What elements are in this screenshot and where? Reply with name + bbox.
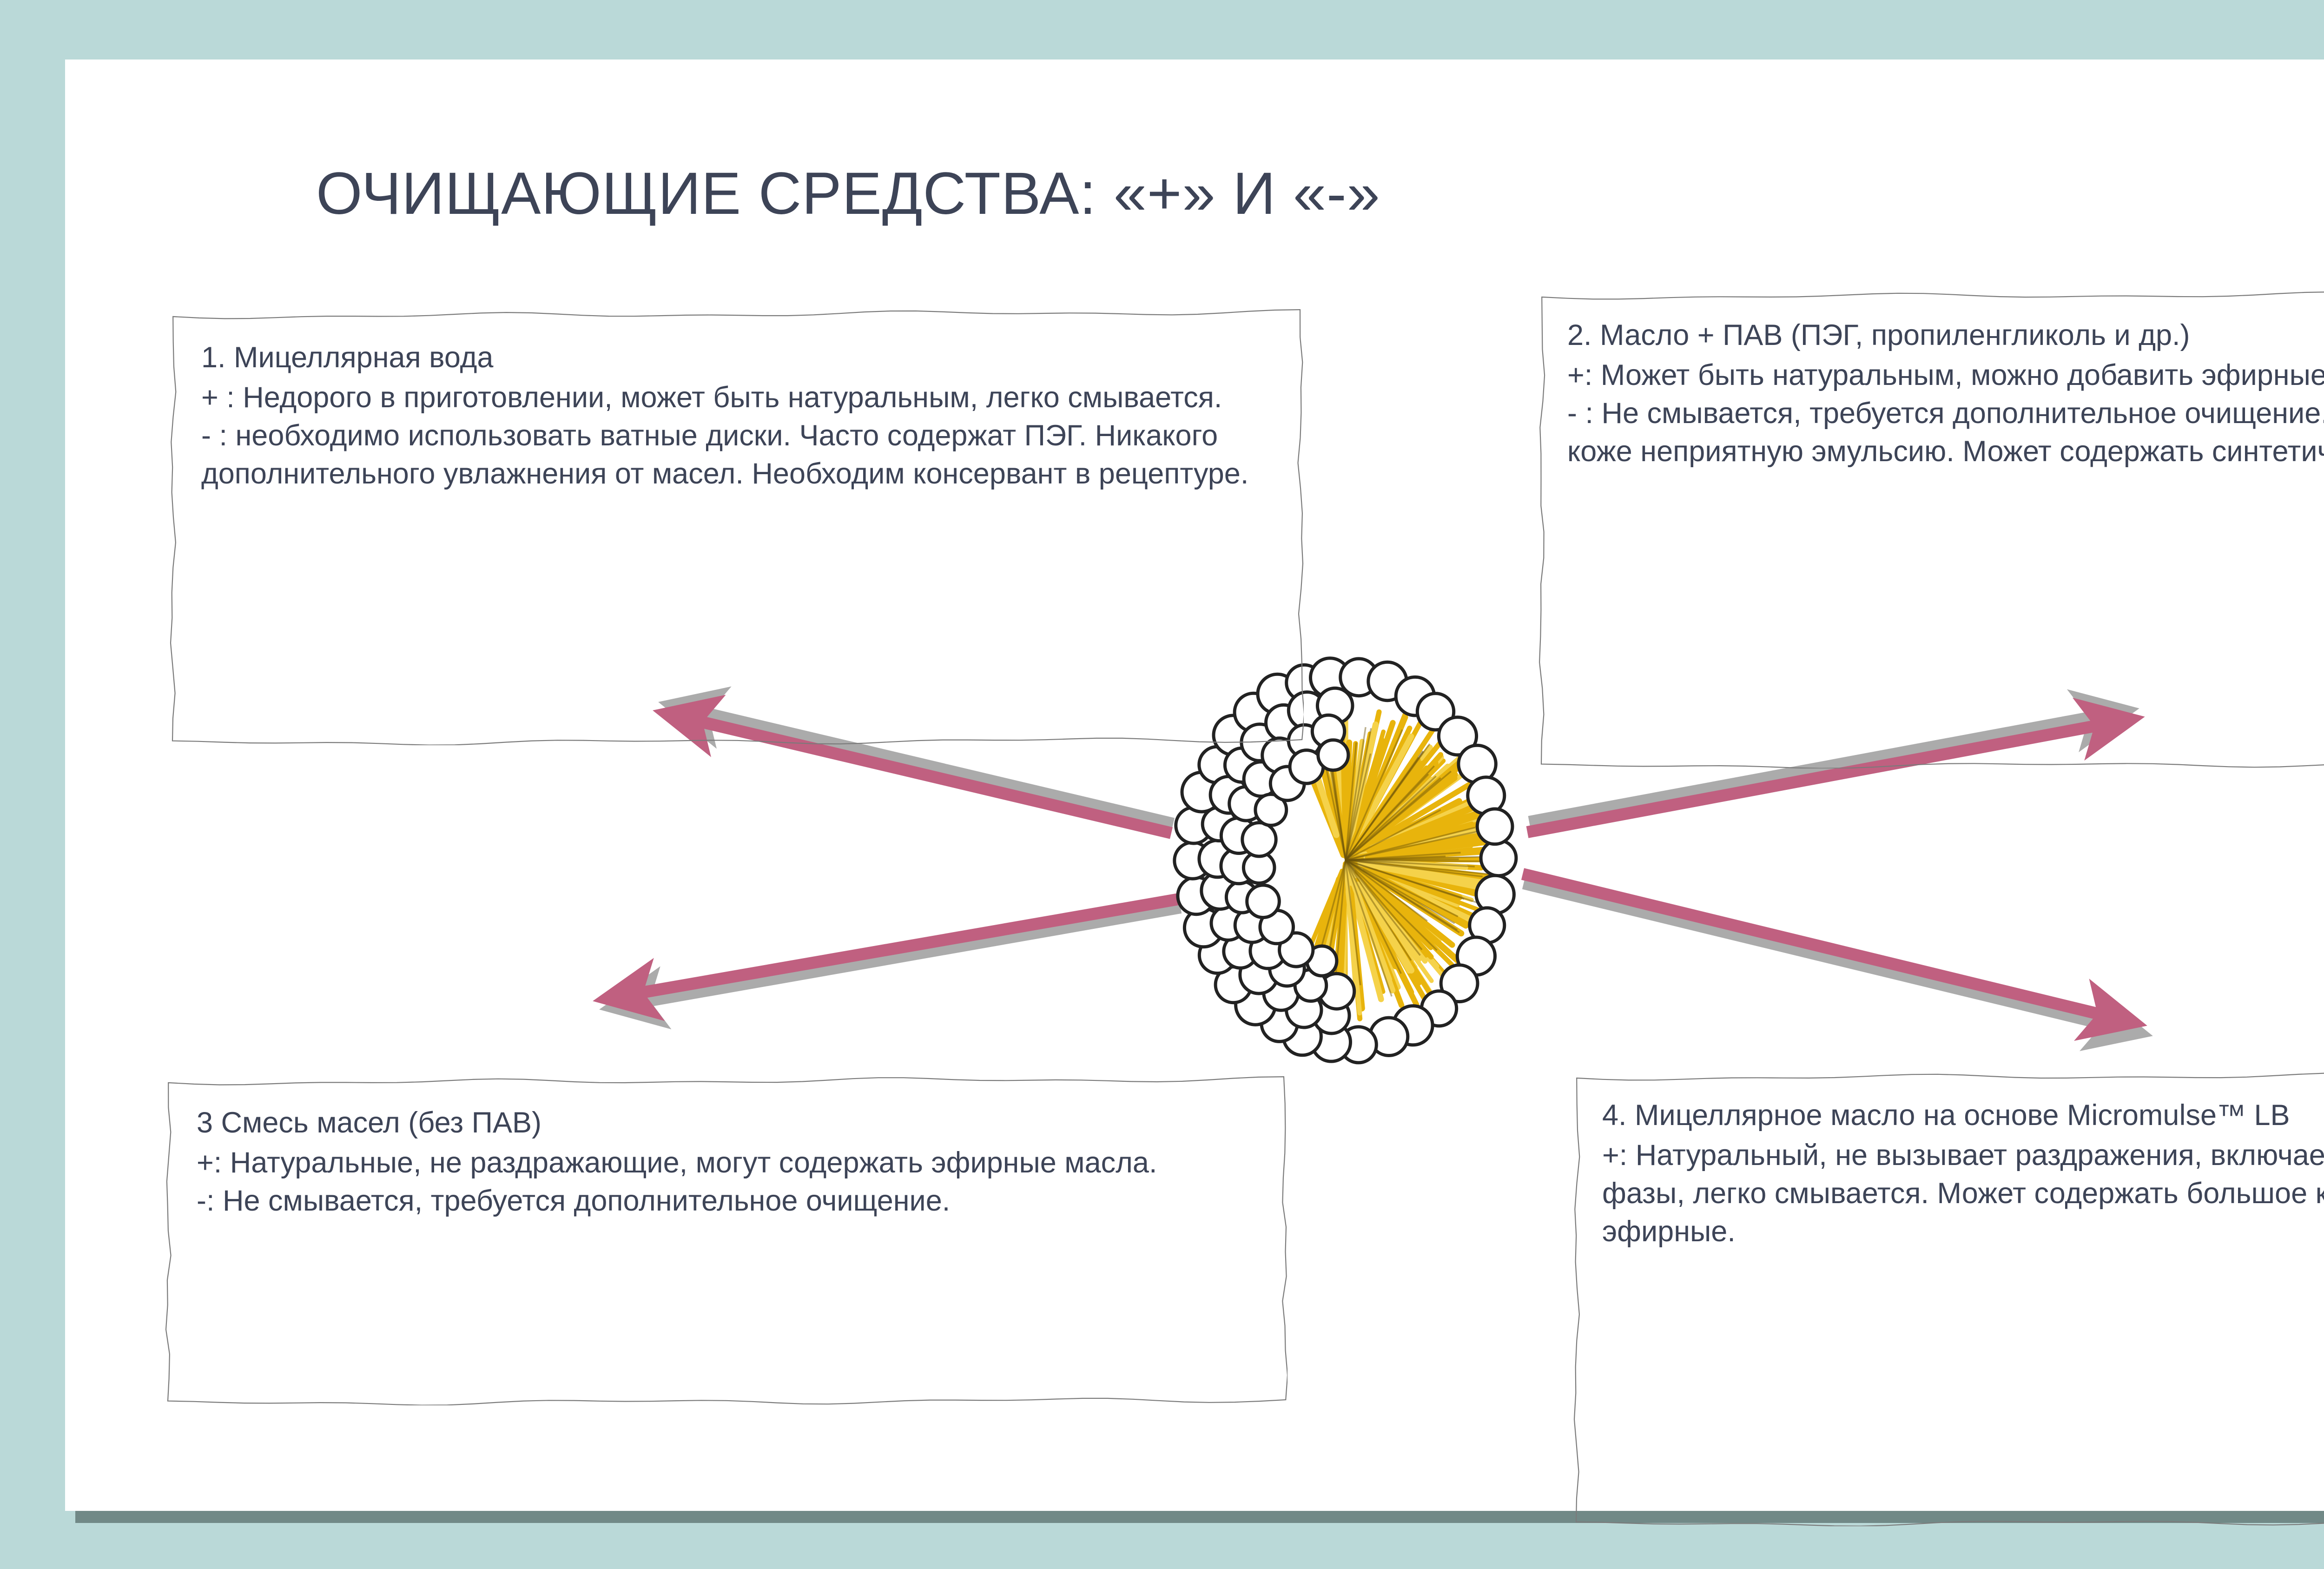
info-box-1-heading: 1. Мицеллярная вода: [201, 339, 1271, 377]
info-box-3-cons: -: Не смывается, требуется дополнительно…: [197, 1182, 1255, 1220]
micelle-head: [1247, 885, 1280, 918]
info-box-3-heading: 3 Смесь масел (без ПАВ): [197, 1104, 1255, 1142]
slide-surface: ОЧИЩАЮЩИЕ СРЕДСТВА: «+» И «-»: [65, 60, 2324, 1511]
info-box-2-cons: - : Не смывается, требуется дополнительн…: [1567, 395, 2324, 471]
info-box-2: 2. Масло + ПАВ (ПЭГ, пропиленгликоль и д…: [1538, 290, 2324, 768]
micelle-head: [1242, 823, 1276, 856]
micelle-head: [1318, 740, 1348, 770]
info-box-4-heading: 4. Мицеллярное масло на основе Micromuls…: [1602, 1097, 2324, 1135]
info-box-4-pros: +: Натуральный, не вызывает раздражения,…: [1602, 1137, 2324, 1251]
info-box-1: 1. Мицеллярная вода + : Недорого в приго…: [170, 308, 1304, 745]
info-box-2-heading: 2. Масло + ПАВ (ПЭГ, пропиленгликоль и д…: [1567, 317, 2324, 355]
info-box-2-pros: +: Может быть натуральным, можно добавит…: [1567, 357, 2324, 395]
info-box-4: 4. Мицеллярное масло на основе Micromuls…: [1573, 1071, 2324, 1526]
arrow-to-box3: [628, 899, 1181, 1003]
page-title: ОЧИЩАЮЩИЕ СРЕДСТВА: «+» И «-»: [316, 159, 1380, 228]
info-box-1-cons: - : необходимо использовать ватные диски…: [201, 417, 1271, 493]
info-box-3-pros: +: Натуральные, не раздражающие, могут с…: [197, 1144, 1255, 1182]
micelle-head: [1481, 841, 1516, 876]
micelle-head: [1477, 809, 1512, 844]
info-box-3: 3 Смесь масел (без ПАВ) +: Натуральные, …: [165, 1075, 1287, 1405]
arrow-to-box4: [1523, 874, 2118, 1027]
info-box-1-pros: + : Недорого в приготовлении, может быть…: [201, 379, 1271, 417]
